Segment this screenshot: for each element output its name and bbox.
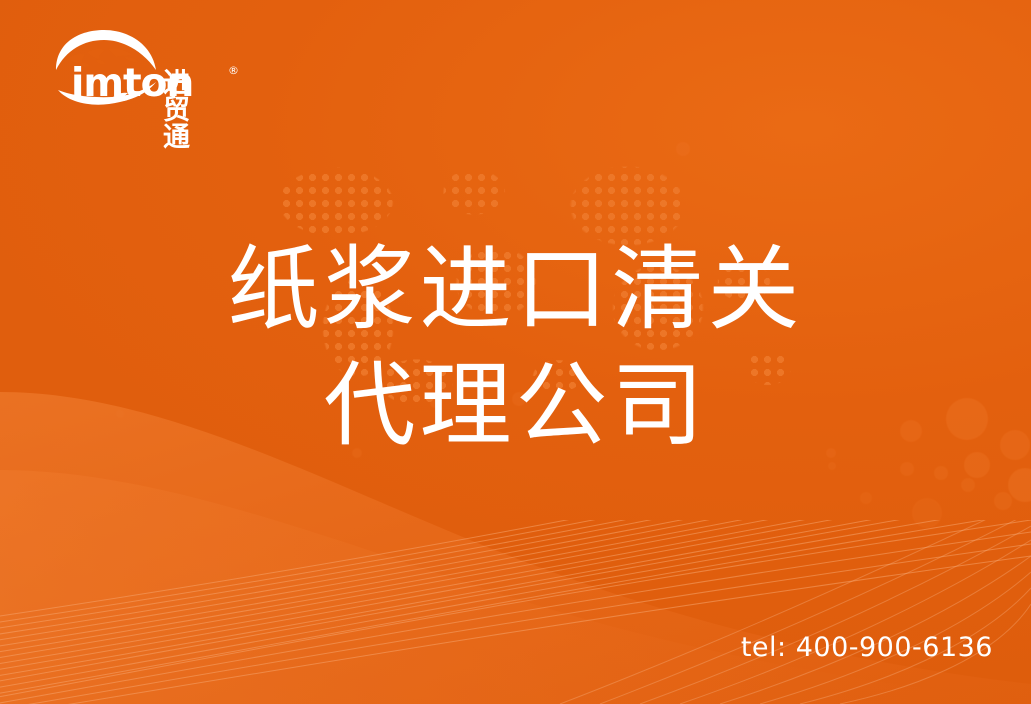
contact-phone[interactable]: tel: 400-900-6136 [741, 634, 993, 661]
headline-line-1: 纸浆进口清关 [227, 236, 803, 343]
brand-logo[interactable]: imton 进贸通 ® [38, 28, 213, 106]
trademark-symbol: ® [228, 64, 239, 77]
headline-line-2: 代理公司 [0, 348, 1031, 464]
poster-canvas: imton 进贸通 ® 纸浆进口清关 代理公司 tel: 400-900-613… [0, 0, 1031, 704]
logo-chinese-name: 进贸通 [163, 70, 213, 151]
page-title: 纸浆进口清关 代理公司 [0, 232, 1031, 464]
